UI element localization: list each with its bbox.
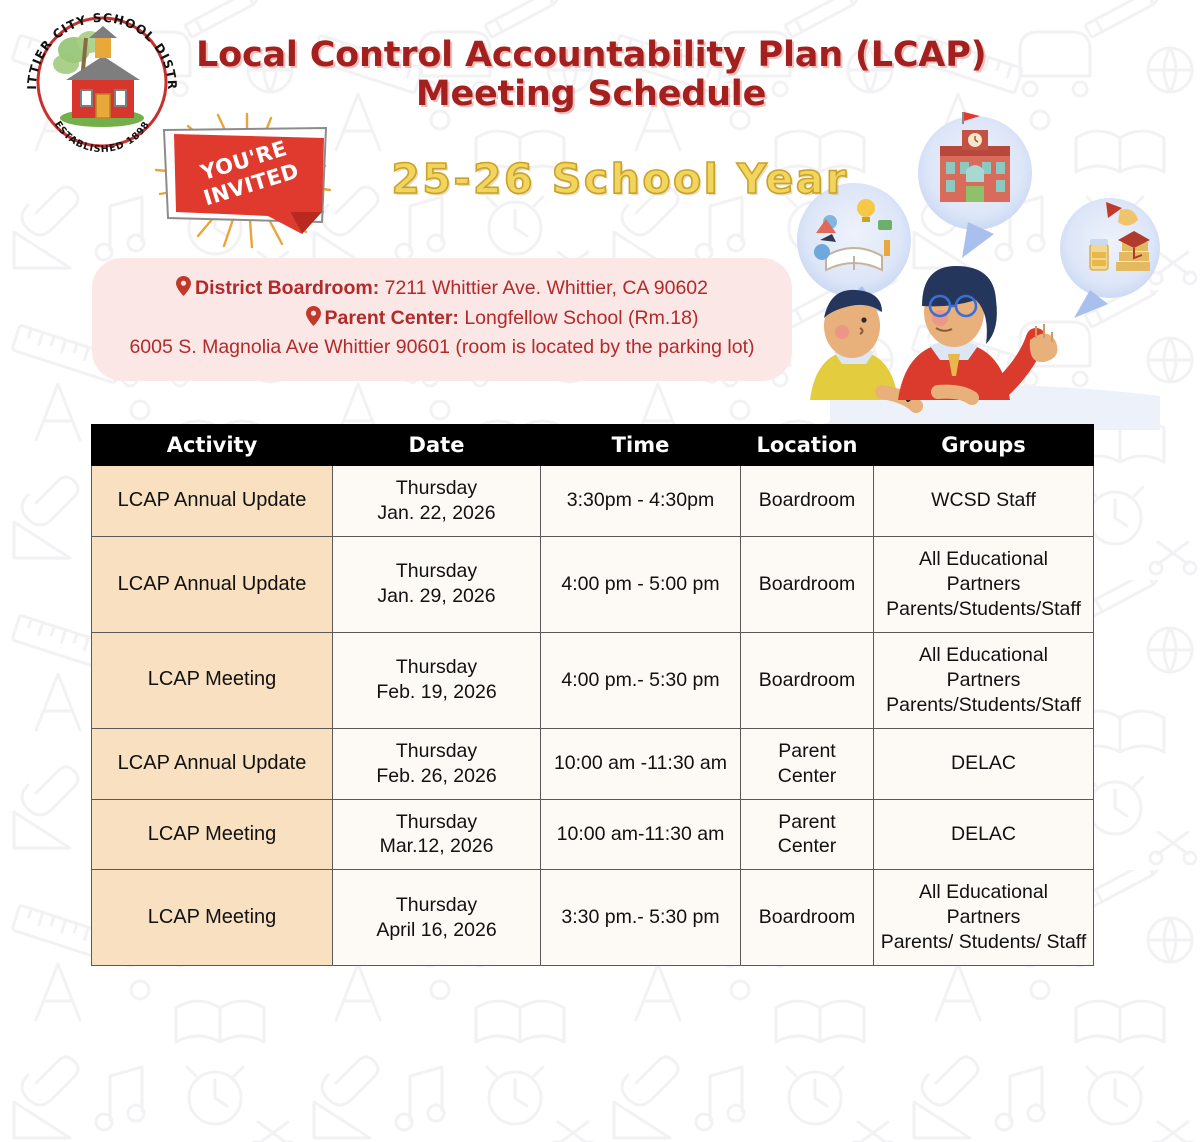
page-subtitle: 25-26 School Year [360,155,880,203]
table-row: LCAP MeetingThursdayMar.12, 202610:00 am… [92,799,1094,870]
cell-date-line-2: Jan. 22, 2026 [338,501,535,526]
cell-time: 3:30 pm.- 5:30 pm [541,870,741,966]
parent-center-label: Parent Center: [325,307,459,329]
cell-activity: LCAP Annual Update [92,536,333,632]
cell-location: ParentCenter [741,799,874,870]
cell-time-line-1: 10:00 am-11:30 am [546,822,735,847]
cell-location: Boardroom [741,870,874,966]
cell-date-line-2: Feb. 19, 2026 [338,680,535,705]
cell-location: Boardroom [741,466,874,537]
title-line-1: Local Control Accountability Plan (LCAP) [196,36,986,75]
cell-activity-line-1: LCAP Meeting [97,822,327,848]
cell-groups-line-3: Parents/Students/Staff [879,693,1088,718]
cell-location-line-1: Boardroom [746,572,868,597]
cell-location: Boardroom [741,536,874,632]
cell-location-line-1: Boardroom [746,488,868,513]
cell-time: 4:00 pm.- 5:30 pm [541,632,741,728]
boardroom-address-line: District Boardroom: 7211 Whittier Ave. W… [114,274,770,304]
cell-date-line-1: Thursday [338,739,535,764]
cell-location-line-1: Boardroom [746,905,868,930]
cell-time: 10:00 am -11:30 am [541,728,741,799]
cell-groups: All EducationalPartnersParents/Students/… [874,632,1094,728]
cell-activity-line-1: LCAP Annual Update [97,751,327,777]
cell-date-line-2: Mar.12, 2026 [338,834,535,859]
cell-time-line-1: 10:00 am -11:30 am [546,751,735,776]
column-header-time: Time [541,425,741,466]
cell-location-line-2: Center [746,764,868,789]
table-row: LCAP MeetingThursdayApril 16, 20263:30 p… [92,870,1094,966]
parent-center-address-line: Parent Center: Longfellow School (Rm.18) [114,304,770,334]
lcap-schedule-table: Activity Date Time Location Groups LCAP … [91,424,1094,966]
cell-time: 4:00 pm - 5:00 pm [541,536,741,632]
address-banner: District Boardroom: 7211 Whittier Ave. W… [92,258,792,381]
cell-groups: WCSD Staff [874,466,1094,537]
cell-activity: LCAP Meeting [92,799,333,870]
cell-activity-line-1: LCAP Annual Update [97,488,327,514]
column-header-activity: Activity [92,425,333,466]
cell-groups-line-3: Parents/Students/Staff [879,597,1088,622]
column-header-date: Date [333,425,541,466]
cell-date-line-2: Feb. 26, 2026 [338,764,535,789]
map-pin-icon [176,276,191,296]
cell-location-line-2: Center [746,834,868,859]
cell-date: ThursdayFeb. 19, 2026 [333,632,541,728]
cell-time: 3:30pm - 4:30pm [541,466,741,537]
cell-groups-line-2: Partners [879,668,1088,693]
boardroom-label: District Boardroom: [195,277,379,299]
cell-groups-line-1: All Educational [879,547,1088,572]
cell-date: ThursdayFeb. 26, 2026 [333,728,541,799]
cell-groups-line-1: DELAC [879,822,1088,847]
column-header-location: Location [741,425,874,466]
parent-center-address-line2: 6005 S. Magnolia Ave Whittier 90601 (roo… [114,333,770,363]
cell-groups: All EducationalPartnersParents/ Students… [874,870,1094,966]
cell-activity: LCAP Meeting [92,632,333,728]
title-line-2: Meeting Schedule [196,75,986,114]
cell-groups-line-2: Partners [879,905,1088,930]
youre-invited-ribbon: YOU'RE INVITED [140,112,354,248]
cell-location-line-1: Parent [746,810,868,835]
cell-date-line-2: April 16, 2026 [338,918,535,943]
cell-activity-line-1: LCAP Annual Update [97,572,327,598]
cell-date-line-1: Thursday [338,559,535,584]
cell-activity-line-1: LCAP Meeting [97,667,327,693]
table-row: LCAP MeetingThursdayFeb. 19, 20264:00 pm… [92,632,1094,728]
cell-date: ThursdayJan. 29, 2026 [333,536,541,632]
cell-date: ThursdayApril 16, 2026 [333,870,541,966]
table-header-row: Activity Date Time Location Groups [92,425,1094,466]
cell-date-line-2: Jan. 29, 2026 [338,584,535,609]
column-header-groups: Groups [874,425,1094,466]
cell-groups-line-1: All Educational [879,643,1088,668]
cell-location-line-1: Boardroom [746,668,868,693]
cell-time-line-1: 3:30 pm.- 5:30 pm [546,905,735,930]
cell-date-line-1: Thursday [338,655,535,680]
cell-date-line-1: Thursday [338,893,535,918]
table-row: LCAP Annual UpdateThursdayJan. 22, 20263… [92,466,1094,537]
cell-groups: All EducationalPartnersParents/Students/… [874,536,1094,632]
table-row: LCAP Annual UpdateThursdayFeb. 26, 20261… [92,728,1094,799]
boardroom-value: 7211 Whittier Ave. Whittier, CA 90602 [385,277,708,299]
cell-activity: LCAP Meeting [92,870,333,966]
cell-groups-line-1: WCSD Staff [879,488,1088,513]
cell-groups-line-1: DELAC [879,751,1088,776]
cell-groups: DELAC [874,799,1094,870]
cell-date-line-1: Thursday [338,810,535,835]
cell-time-line-1: 4:00 pm.- 5:30 pm [546,668,735,693]
cell-date: ThursdayJan. 22, 2026 [333,466,541,537]
parent-center-value: Longfellow School (Rm.18) [464,307,698,329]
table-row: LCAP Annual UpdateThursdayJan. 29, 20264… [92,536,1094,632]
cell-activity: LCAP Annual Update [92,466,333,537]
cell-time-line-1: 3:30pm - 4:30pm [546,488,735,513]
cell-time: 10:00 am-11:30 am [541,799,741,870]
cell-date-line-1: Thursday [338,476,535,501]
cell-groups: DELAC [874,728,1094,799]
cell-groups-line-3: Parents/ Students/ Staff [879,930,1088,955]
page-title: Local Control Accountability Plan (LCAP)… [196,36,986,114]
cell-location: ParentCenter [741,728,874,799]
cell-groups-line-2: Partners [879,572,1088,597]
cell-activity: LCAP Annual Update [92,728,333,799]
map-pin-icon [306,306,321,326]
cell-groups-line-1: All Educational [879,880,1088,905]
cell-location-line-1: Parent [746,739,868,764]
cell-activity-line-1: LCAP Meeting [97,905,327,931]
cell-date: ThursdayMar.12, 2026 [333,799,541,870]
cell-location: Boardroom [741,632,874,728]
cell-time-line-1: 4:00 pm - 5:00 pm [546,572,735,597]
